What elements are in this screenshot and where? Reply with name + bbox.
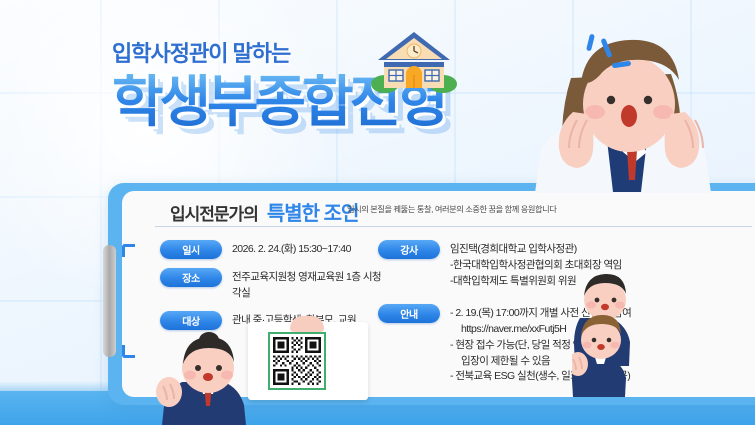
- school-building-icon: [368, 26, 460, 98]
- info-row-datetime: 일시 2026. 2. 24.(화) 15:30~17:40: [160, 240, 385, 259]
- clip-corner-bottom: [122, 345, 135, 358]
- card-subtitle: 입시의 본질을 꿰뚫는 통찰, 여러분의 소중한 꿈을 함께 응원합니다: [347, 203, 556, 215]
- qr-code-pattern: [273, 337, 321, 385]
- student-girl-surprised-illustration: [511, 8, 755, 193]
- value-datetime: 2026. 2. 24.(화) 15:30~17:40: [232, 240, 351, 258]
- clipboard-clip: [103, 245, 116, 357]
- badge-audience: 대상: [160, 311, 222, 330]
- card-header: 입시전문가의 특별한 조언: [170, 197, 358, 226]
- badge-speaker: 강사: [378, 240, 440, 259]
- qr-code[interactable]: [268, 332, 326, 390]
- card-divider: [155, 226, 752, 227]
- clip-corner-top: [122, 244, 135, 257]
- card-header-blue: 특별한 조언: [267, 197, 359, 226]
- info-row-place: 장소 전주교육지원청 영재교육원 1층 시청각실: [160, 268, 385, 302]
- students-peeking-illustration: [572, 272, 677, 397]
- card-header-dark: 입시전문가의: [170, 200, 258, 225]
- hand-holding-card-illustration: [290, 316, 324, 332]
- badge-datetime: 일시: [160, 240, 222, 259]
- speaker-line-1: 임진택(경희대학교 입학사정관): [450, 242, 622, 258]
- badge-place: 장소: [160, 268, 222, 287]
- value-place: 전주교육지원청 영재교육원 1층 시청각실: [232, 268, 385, 302]
- badge-notice: 안내: [378, 304, 440, 323]
